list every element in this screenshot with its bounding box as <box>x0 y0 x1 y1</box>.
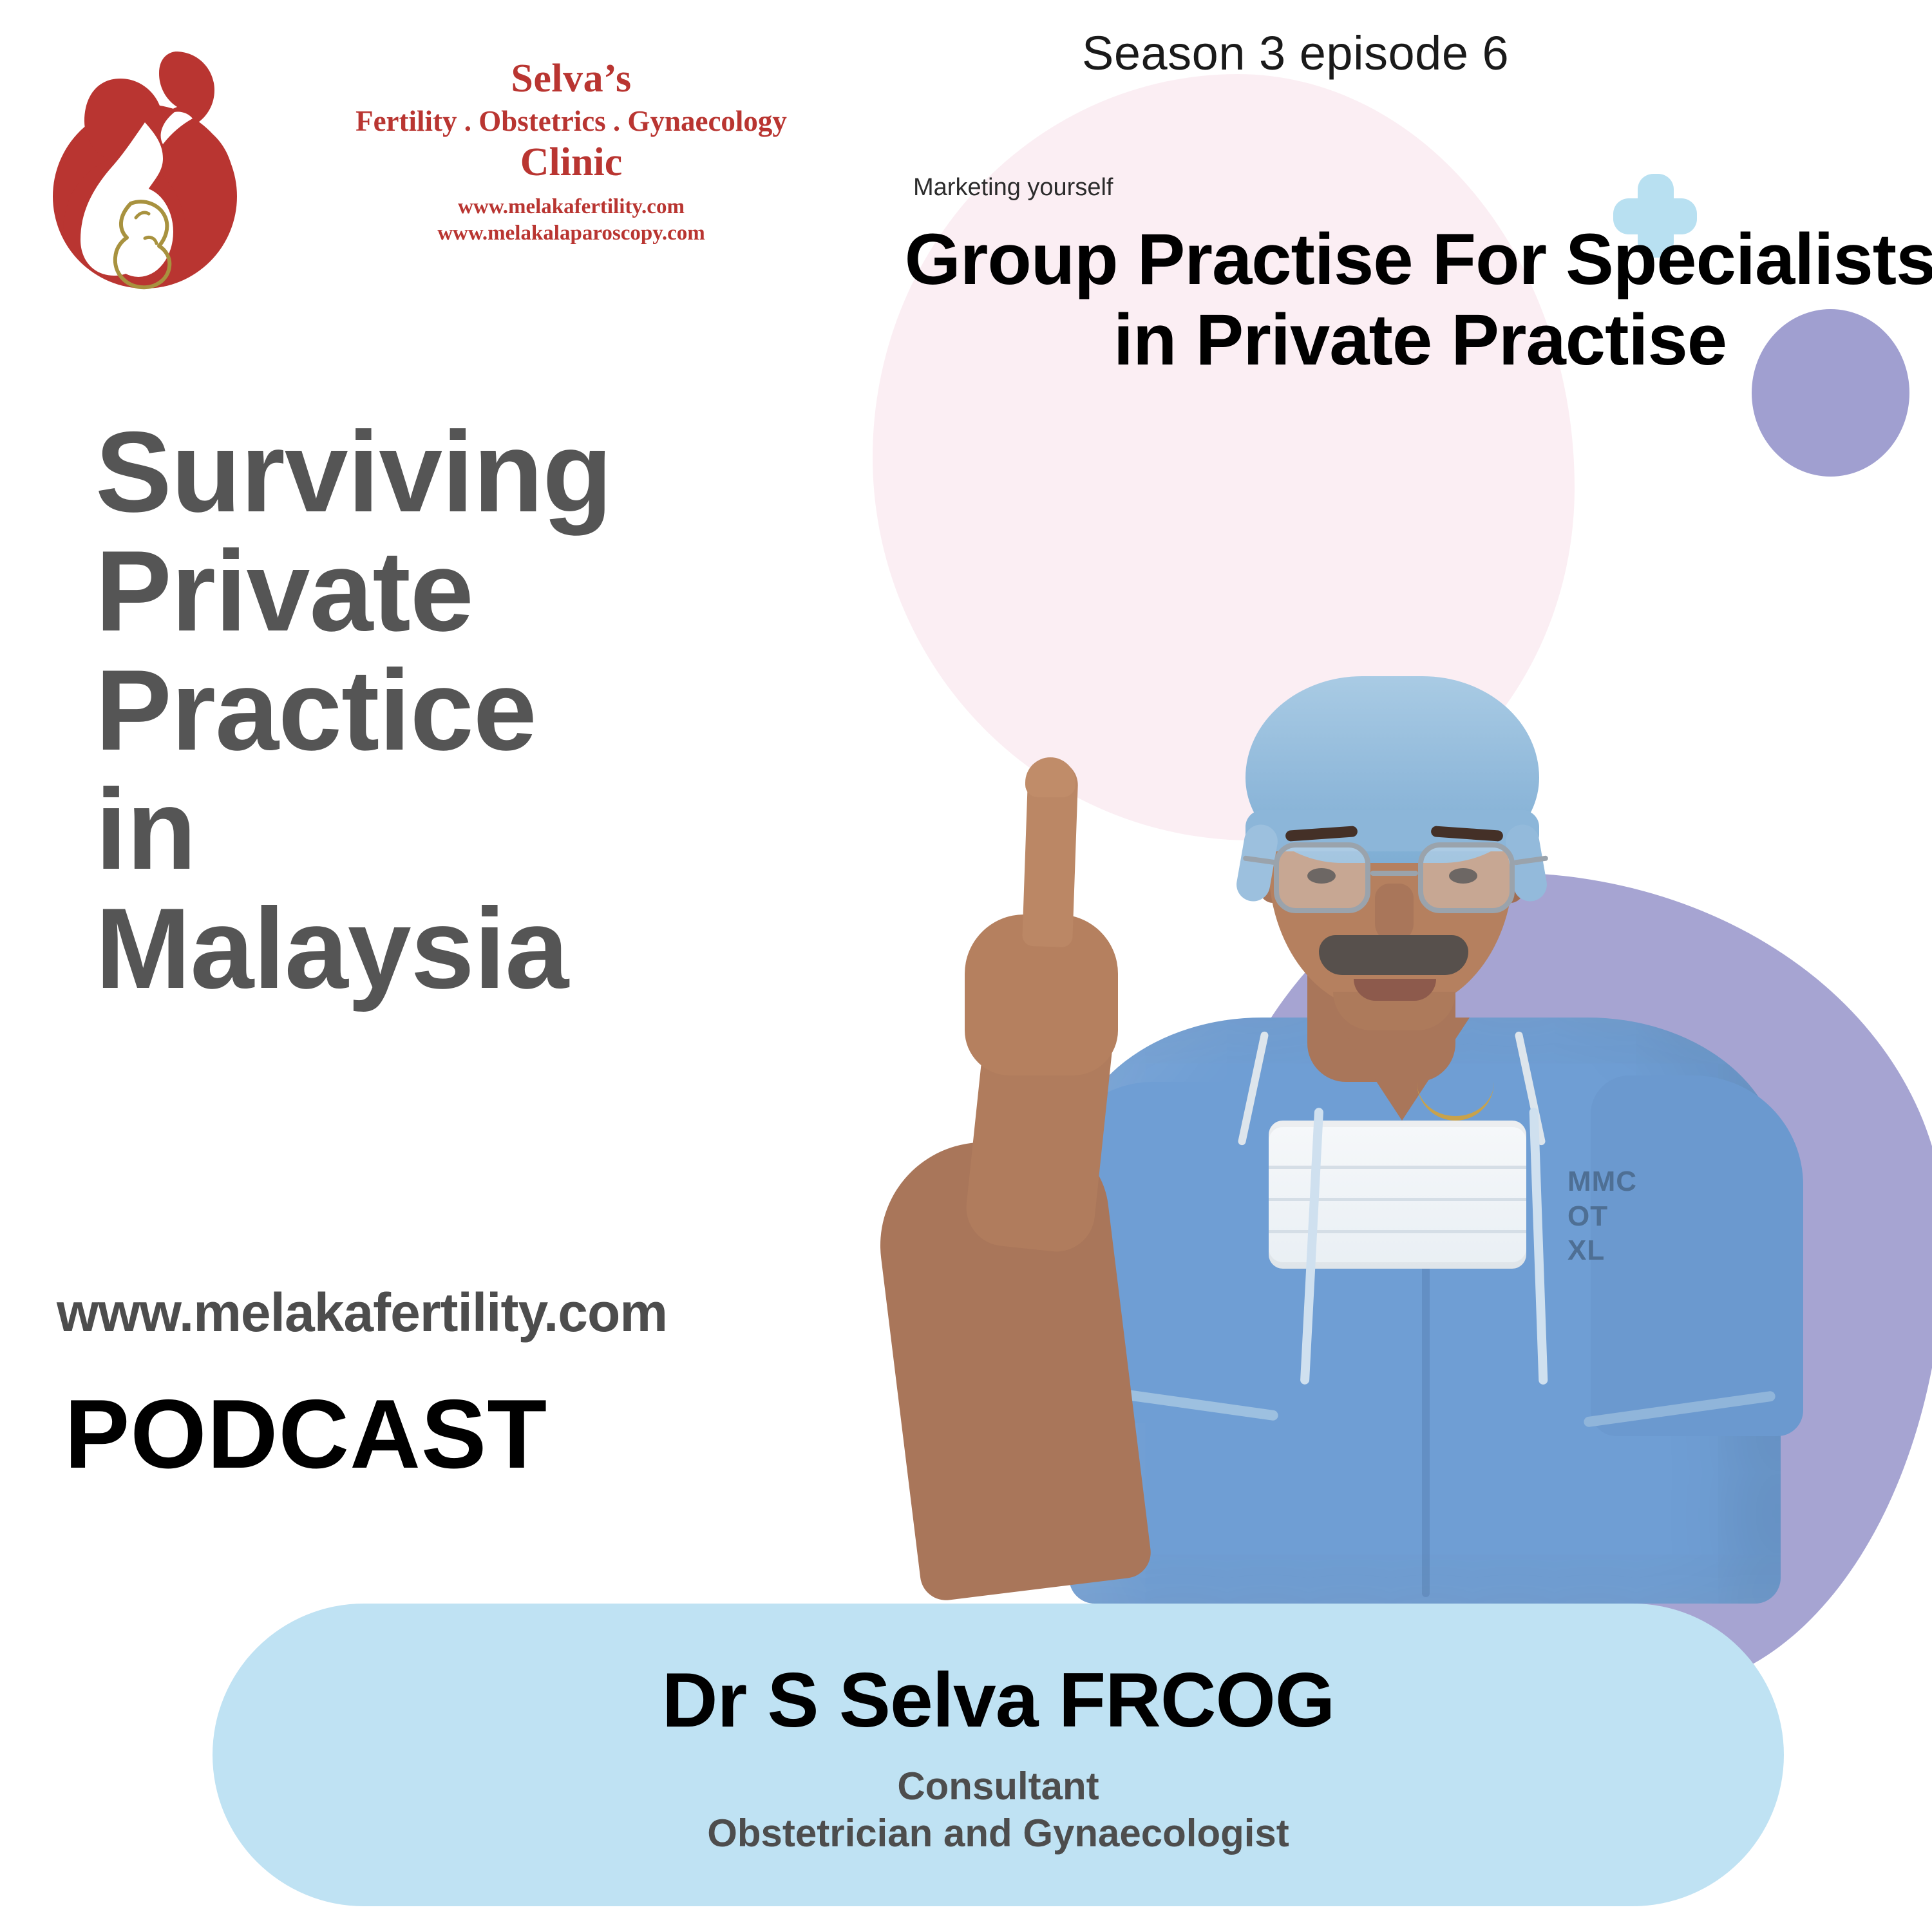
scrub-label-line-1: MMC <box>1567 1164 1696 1199</box>
podcast-label: PODCAST <box>64 1378 547 1491</box>
mask-pleat <box>1269 1166 1526 1169</box>
podcast-cover: Selva’s Fertility . Obstetrics . Gynaeco… <box>0 0 1932 1932</box>
host-mouth <box>1354 979 1436 1001</box>
host-role-line-1: Consultant <box>707 1763 1289 1810</box>
clinic-logo: Selva’s Fertility . Obstetrics . Gynaeco… <box>48 45 885 328</box>
glasses-lens-right <box>1418 842 1515 913</box>
clinic-website-primary: www.melakafertility.com <box>257 194 885 220</box>
clinic-logo-text: Selva’s Fertility . Obstetrics . Gynaeco… <box>241 45 885 247</box>
show-title-line-5: Malaysia <box>95 889 900 1008</box>
host-nose <box>1375 884 1414 943</box>
scrub-crease <box>1422 1262 1430 1597</box>
show-title-line-2: Private <box>95 531 900 650</box>
show-title: Surviving Private Practice in Malaysia <box>95 412 900 1009</box>
host-role-line-2: Obstetrician and Gynaecologist <box>707 1810 1289 1857</box>
clinic-word: Clinic <box>257 140 885 185</box>
show-title-line-1: Surviving <box>95 412 900 531</box>
scrub-chest-label: MMC OT XL <box>1567 1164 1696 1268</box>
season-episode-label: Season 3 episode 6 <box>1082 26 1509 80</box>
mask-pleat <box>1269 1230 1526 1233</box>
show-title-line-4: in <box>95 770 900 889</box>
glasses-bridge <box>1370 871 1418 876</box>
clinic-website-secondary: www.melakalaparoscopy.com <box>257 220 885 247</box>
scrub-label-line-2: OT <box>1567 1199 1696 1234</box>
show-website: www.melakafertility.com <box>57 1282 667 1344</box>
host-portrait: MMC OT XL <box>857 631 1913 1636</box>
episode-title: Group Practise For Specialists in Privat… <box>902 219 1932 381</box>
clinic-name: Selva’s <box>257 57 885 101</box>
host-index-fingertip <box>1025 757 1075 797</box>
host-name-pill: Dr S Selva FRCOG Consultant Obstetrician… <box>213 1604 1784 1906</box>
mask-pleat <box>1269 1198 1526 1201</box>
host-moustache <box>1319 935 1468 975</box>
scrub-label-line-3: XL <box>1567 1233 1696 1268</box>
host-name: Dr S Selva FRCOG <box>662 1660 1334 1741</box>
episode-kicker: Marketing yourself <box>913 174 1113 202</box>
clinic-logo-mark-icon <box>48 45 241 296</box>
clinic-specialties: Fertility . Obstetrics . Gynaecology <box>257 104 885 138</box>
glasses-lens-left <box>1274 842 1370 913</box>
host-role: Consultant Obstetrician and Gynaecologis… <box>707 1763 1289 1857</box>
show-title-line-3: Practice <box>95 650 900 770</box>
